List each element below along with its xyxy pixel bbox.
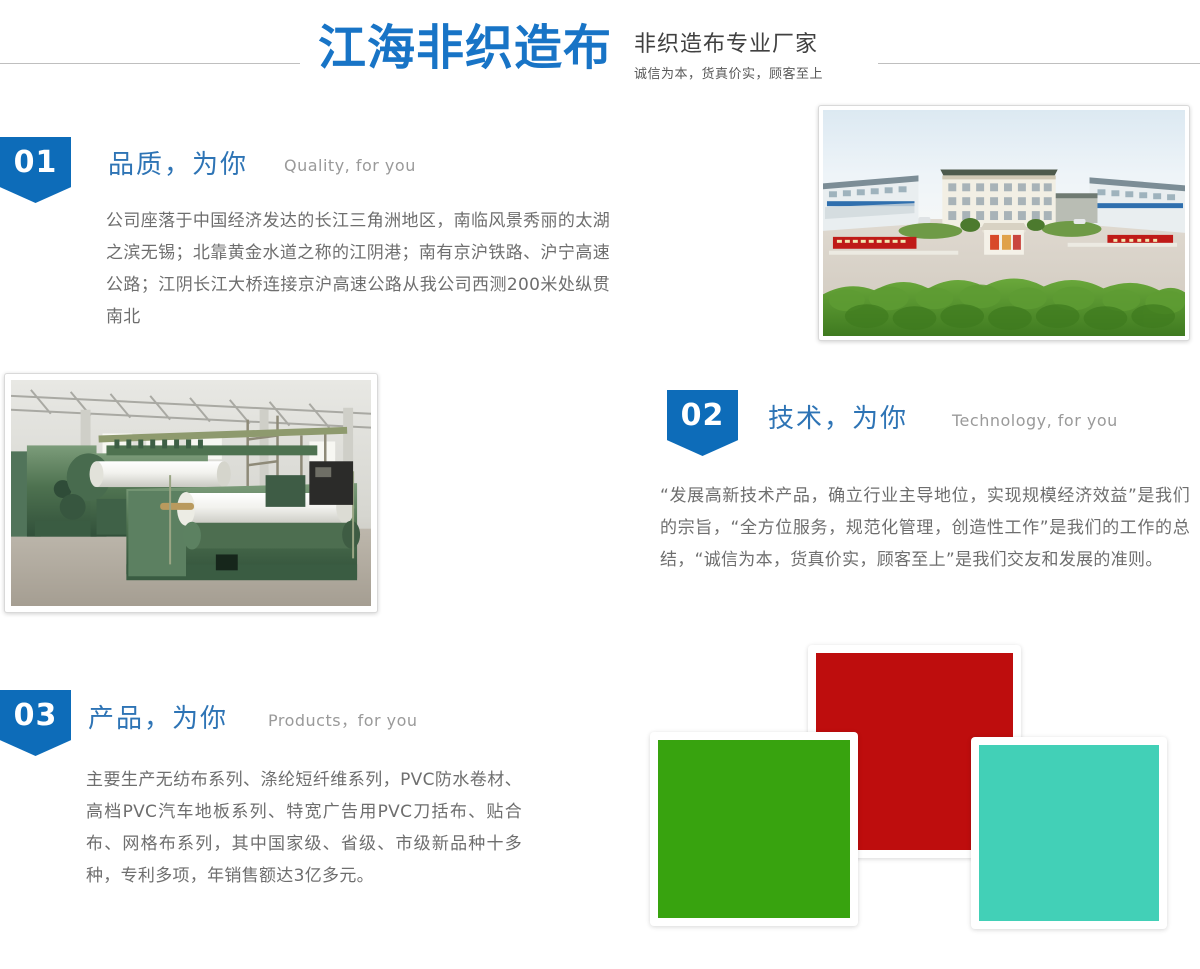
brand-slogan: 诚信为本，货真价实，顾客至上 [634, 66, 823, 84]
swatch-green-texture [658, 740, 850, 918]
brand-block: 江海非织造布 非织造布专业厂家 诚信为本，货真价实，顾客至上 [318, 14, 878, 90]
section-badge-01: 01 [0, 137, 71, 203]
brand-name: 江海非织造布 [318, 18, 612, 78]
section-title-02: 技术，为你 [768, 402, 908, 436]
swatch-green [650, 732, 858, 926]
factory-aerial-photo [818, 105, 1190, 341]
section-body-03: 主要生产无纺布系列、涤纶短纤维系列，PVC防水卷材、高档PVC汽车地板系列、特宽… [86, 764, 522, 892]
section-body-02: “发展高新技术产品，确立行业主导地位，实现规模经济效益”是我们的宗旨，“全方位服… [660, 480, 1190, 576]
section-badge-03: 03 [0, 690, 71, 756]
factory-aerial-photo-scene [823, 110, 1185, 336]
section-title-en-01: Quality, for you [284, 155, 416, 177]
section-title-01: 品质，为你 [108, 148, 248, 182]
machine-photo-scene [11, 380, 371, 606]
section-title-en-03: Products，for you [268, 710, 418, 732]
section-badge-02: 02 [667, 390, 738, 456]
section-body-01: 公司座落于中国经济发达的长江三角洲地区，南临风景秀丽的太湖之滨无锡；北靠黄金水道… [106, 205, 610, 333]
page-header: 江海非织造布 非织造布专业厂家 诚信为本，货真价实，顾客至上 [0, 0, 1200, 100]
header-rule-left [0, 63, 300, 64]
promo-page: 江海非织造布 非织造布专业厂家 诚信为本，货真价实，顾客至上 01 品质，为你 … [0, 0, 1200, 969]
section-title-03: 产品，为你 [88, 702, 228, 736]
section-title-en-02: Technology, for you [952, 410, 1118, 432]
swatch-cyan-texture [979, 745, 1159, 921]
swatch-cyan [971, 737, 1167, 929]
brand-subtitle: 非织造布专业厂家 [634, 30, 818, 60]
header-rule-right [878, 63, 1200, 64]
machine-photo [4, 373, 378, 613]
